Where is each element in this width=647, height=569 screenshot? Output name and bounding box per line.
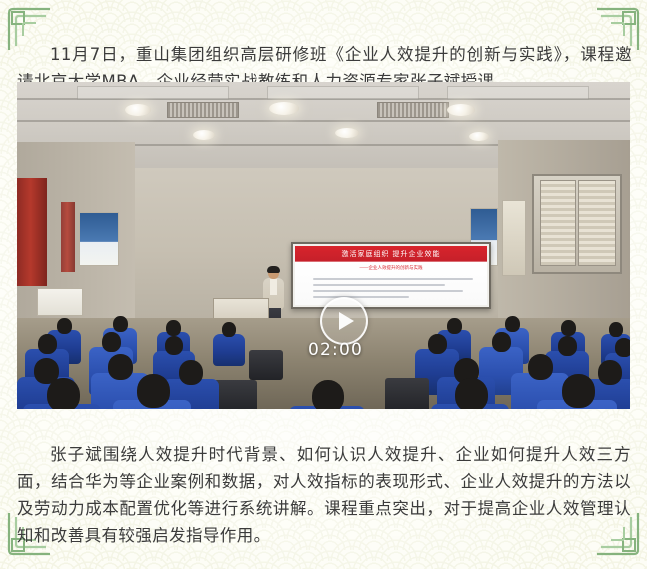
article-page: 11月7日，重山集团组织高层研修班《企业人效提升的创新与实践》，课程邀请北京大学… — [0, 0, 647, 569]
play-triangle-icon — [339, 312, 354, 330]
article-paragraph-bottom: 张子斌围绕人效提升时代背景、如何认识人效提升、企业如何提升人效三方面，结合华为等… — [17, 441, 631, 549]
video-duration-label: 02:00 — [308, 340, 363, 360]
video-player[interactable]: 激活家庭组织 提升企业效能 ——企业人效提升的创新与实践 — [17, 82, 630, 409]
play-button[interactable] — [320, 297, 368, 345]
slide-content: 激活家庭组织 提升企业效能 ——企业人效提升的创新与实践 — [295, 246, 487, 305]
slide-subtitle: ——企业人效提升的创新与实践 — [295, 265, 487, 271]
projection-screen: 激活家庭组织 提升企业效能 ——企业人效提升的创新与实践 — [291, 242, 491, 309]
slide-title: 激活家庭组织 提升企业效能 — [295, 246, 487, 263]
